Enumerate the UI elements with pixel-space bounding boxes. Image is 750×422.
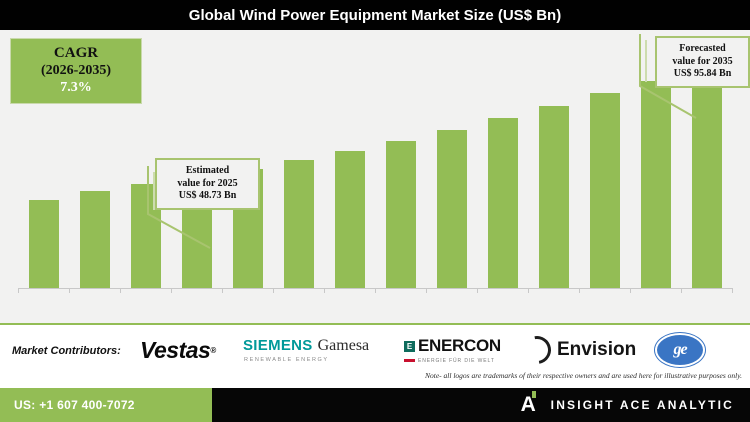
ge-logo: ge — [655, 335, 705, 365]
x-axis-tick — [273, 288, 274, 293]
enercon-tagline: ENERGIE FÜR DIE WELT — [418, 358, 495, 364]
brand-letter: A — [521, 394, 539, 416]
x-axis-tick — [528, 288, 529, 293]
footer-contact-block: US: +1 607 400-7072 — [0, 388, 212, 422]
estimated-value-callout: Estimated value for 2025 US$ 48.73 Bn — [155, 158, 260, 210]
x-axis-tick — [630, 288, 631, 293]
x-axis-tick — [477, 288, 478, 293]
brand-accent-icon — [532, 391, 536, 398]
bar-2030 — [437, 130, 467, 288]
x-axis-tick — [579, 288, 580, 293]
bar-2032 — [539, 106, 569, 288]
infographic-root: Global Wind Power Equipment Market Size … — [0, 0, 750, 422]
envision-swirl-icon — [518, 331, 557, 370]
bar-2031 — [488, 118, 518, 288]
bar-2033 — [590, 93, 620, 288]
forecasted-value-callout: Forecasted value for 2035 US$ 95.84 Bn — [655, 36, 750, 88]
x-axis-tick — [426, 288, 427, 293]
bar-2023 — [80, 191, 110, 288]
logo-trademark-note: Note- all logos are trademarks of their … — [425, 371, 742, 380]
x-axis-tick — [732, 288, 733, 293]
x-axis-tick — [18, 288, 19, 293]
enercon-mark-icon: E — [404, 341, 415, 352]
market-contributors-strip: Market Contributors: Vestas® SIEMENS Gam… — [0, 323, 750, 388]
x-axis-tick — [324, 288, 325, 293]
forecasted-line2: value for 2035 — [672, 56, 732, 69]
x-axis-tick — [681, 288, 682, 293]
siemens-gamesa-logo: SIEMENS Gamesa RENEWABLE ENERGY — [243, 335, 369, 365]
enercon-logo-text: ENERCON — [418, 336, 501, 356]
bar-2022 — [29, 200, 59, 288]
x-axis-tick — [375, 288, 376, 293]
estimated-line2: value for 2025 — [177, 178, 237, 191]
x-axis-tick — [222, 288, 223, 293]
x-axis-tick — [69, 288, 70, 293]
cagr-value: 7.3% — [60, 79, 92, 97]
footer-brand-block: A INSIGHT ACE ANALYTIC — [521, 388, 734, 422]
gamesa-logo-text: Gamesa — [318, 337, 370, 355]
envision-logo: Envision — [523, 335, 636, 365]
contributors-label: Market Contributors: — [12, 345, 121, 357]
estimated-line3: US$ 48.73 Bn — [179, 190, 237, 203]
x-axis-tick — [171, 288, 172, 293]
footer-phone-number[interactable]: US: +1 607 400-7072 — [14, 398, 135, 412]
page-title: Global Wind Power Equipment Market Size … — [189, 7, 561, 24]
ge-circle-icon: ge — [655, 333, 705, 367]
insightace-logo-icon: A — [521, 394, 539, 416]
vestas-logo: Vestas® — [140, 335, 216, 365]
brand-name: INSIGHT ACE ANALYTIC — [551, 398, 734, 412]
cagr-callout-box: CAGR (2026-2035) 7.3% — [10, 38, 142, 104]
x-axis-tick — [120, 288, 121, 293]
chart-header: Global Wind Power Equipment Market Size … — [0, 0, 750, 30]
bar-2028 — [335, 151, 365, 288]
estimated-line1: Estimated — [186, 165, 229, 178]
siemens-gamesa-tagline: RENEWABLE ENERGY — [244, 357, 329, 363]
footer-bar: US: +1 607 400-7072 A INSIGHT ACE ANALYT… — [0, 388, 750, 422]
cagr-title: CAGR — [54, 45, 98, 62]
cagr-period: (2026-2035) — [41, 62, 111, 79]
forecasted-line3: US$ 95.84 Bn — [674, 68, 732, 81]
bar-2027 — [284, 160, 314, 288]
enercon-red-bar-icon — [404, 359, 415, 362]
enercon-logo: E ENERCON ENERGIE FÜR DIE WELT — [404, 335, 501, 365]
envision-logo-text: Envision — [557, 339, 636, 361]
siemens-logo-text: SIEMENS — [243, 337, 313, 354]
forecasted-line1: Forecasted — [679, 43, 725, 56]
bar-2029 — [386, 141, 416, 288]
ge-logo-text: ge — [673, 341, 686, 359]
vestas-logo-text: Vestas — [140, 337, 210, 364]
